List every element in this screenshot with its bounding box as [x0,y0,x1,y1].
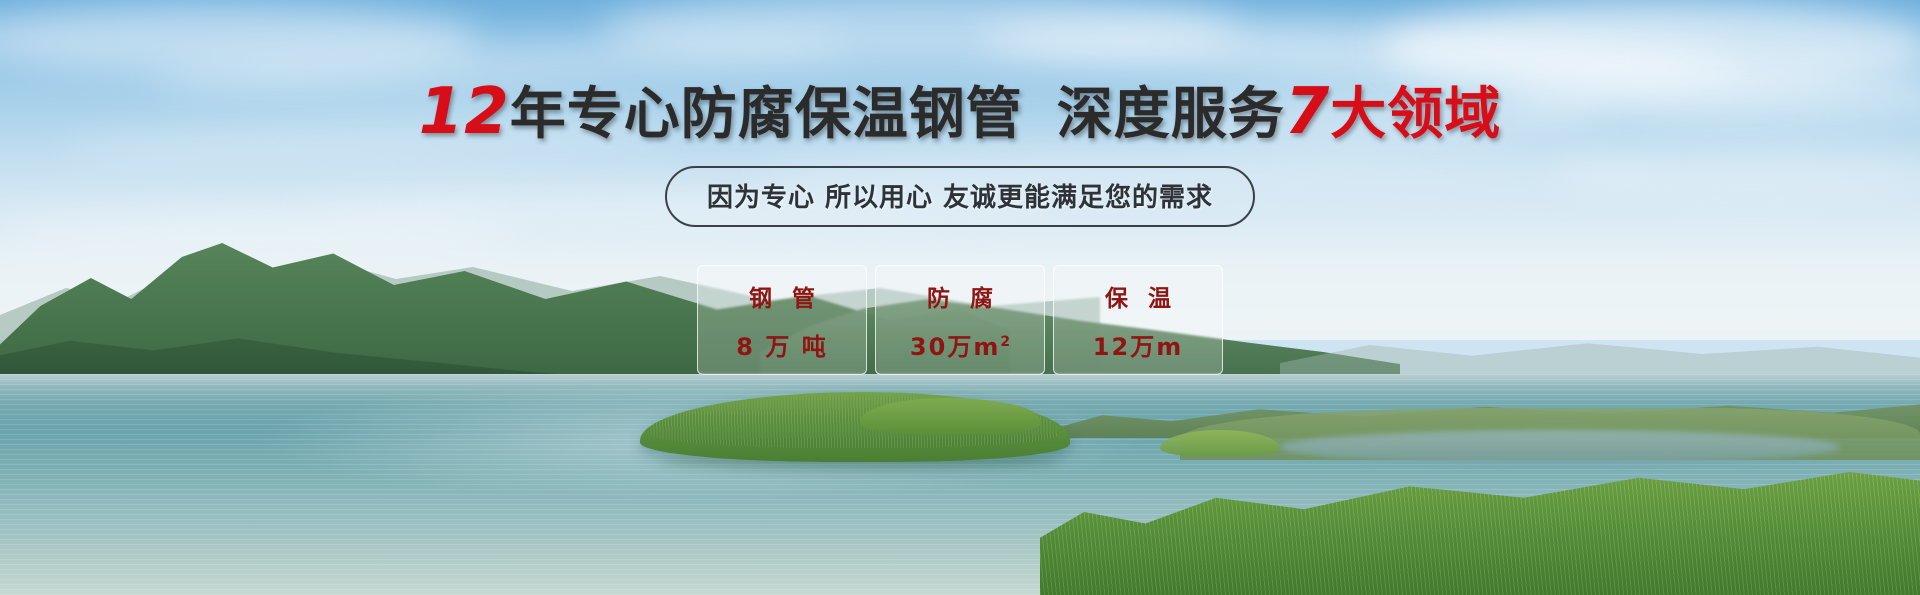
stat-card-value: 30万m2 [910,327,1010,362]
stat-card-label: 保 温 [1099,279,1177,313]
stat-card-insulation[interactable]: 保 温 12万m [1053,265,1223,375]
stat-card-value-text: 8 万 吨 [736,333,827,361]
stat-card-anticorrosion[interactable]: 防 腐 30万m2 [875,265,1045,375]
stat-card-value-superscript: 2 [1000,334,1010,350]
banner-headline: 12年专心防腐保温钢管深度服务7大领域 [0,80,1920,144]
stat-card-list: 钢 管 8 万 吨 防 腐 30万m2 保 温 12万m [0,265,1920,375]
banner-subtitle-wrapper: 因为专心 所以用心 友诚更能满足您的需求 [0,166,1920,227]
stat-card-value-text: 12万m [1093,333,1183,361]
stat-card-label: 防 腐 [921,279,999,313]
stat-card-steel-pipe[interactable]: 钢 管 8 万 吨 [697,265,867,375]
headline-years-number: 12 [419,75,510,149]
headline-fields-number: 7 [1285,75,1331,149]
headline-text-part1: 年专心防腐保温钢管 [510,82,1023,147]
banner-content: 12年专心防腐保温钢管深度服务7大领域 因为专心 所以用心 友诚更能满足您的需求… [0,0,1920,595]
headline-text-part2: 深度服务 [1057,82,1285,147]
stat-card-value: 8 万 吨 [736,327,827,362]
banner-subtitle-pill: 因为专心 所以用心 友诚更能满足您的需求 [665,166,1255,227]
stat-card-value-text: 30万m [910,333,1000,361]
hero-banner: 12年专心防腐保温钢管深度服务7大领域 因为专心 所以用心 友诚更能满足您的需求… [0,0,1920,595]
stat-card-value: 12万m [1093,327,1183,362]
headline-text-part3: 大领域 [1330,82,1501,147]
stat-card-label: 钢 管 [743,279,821,313]
